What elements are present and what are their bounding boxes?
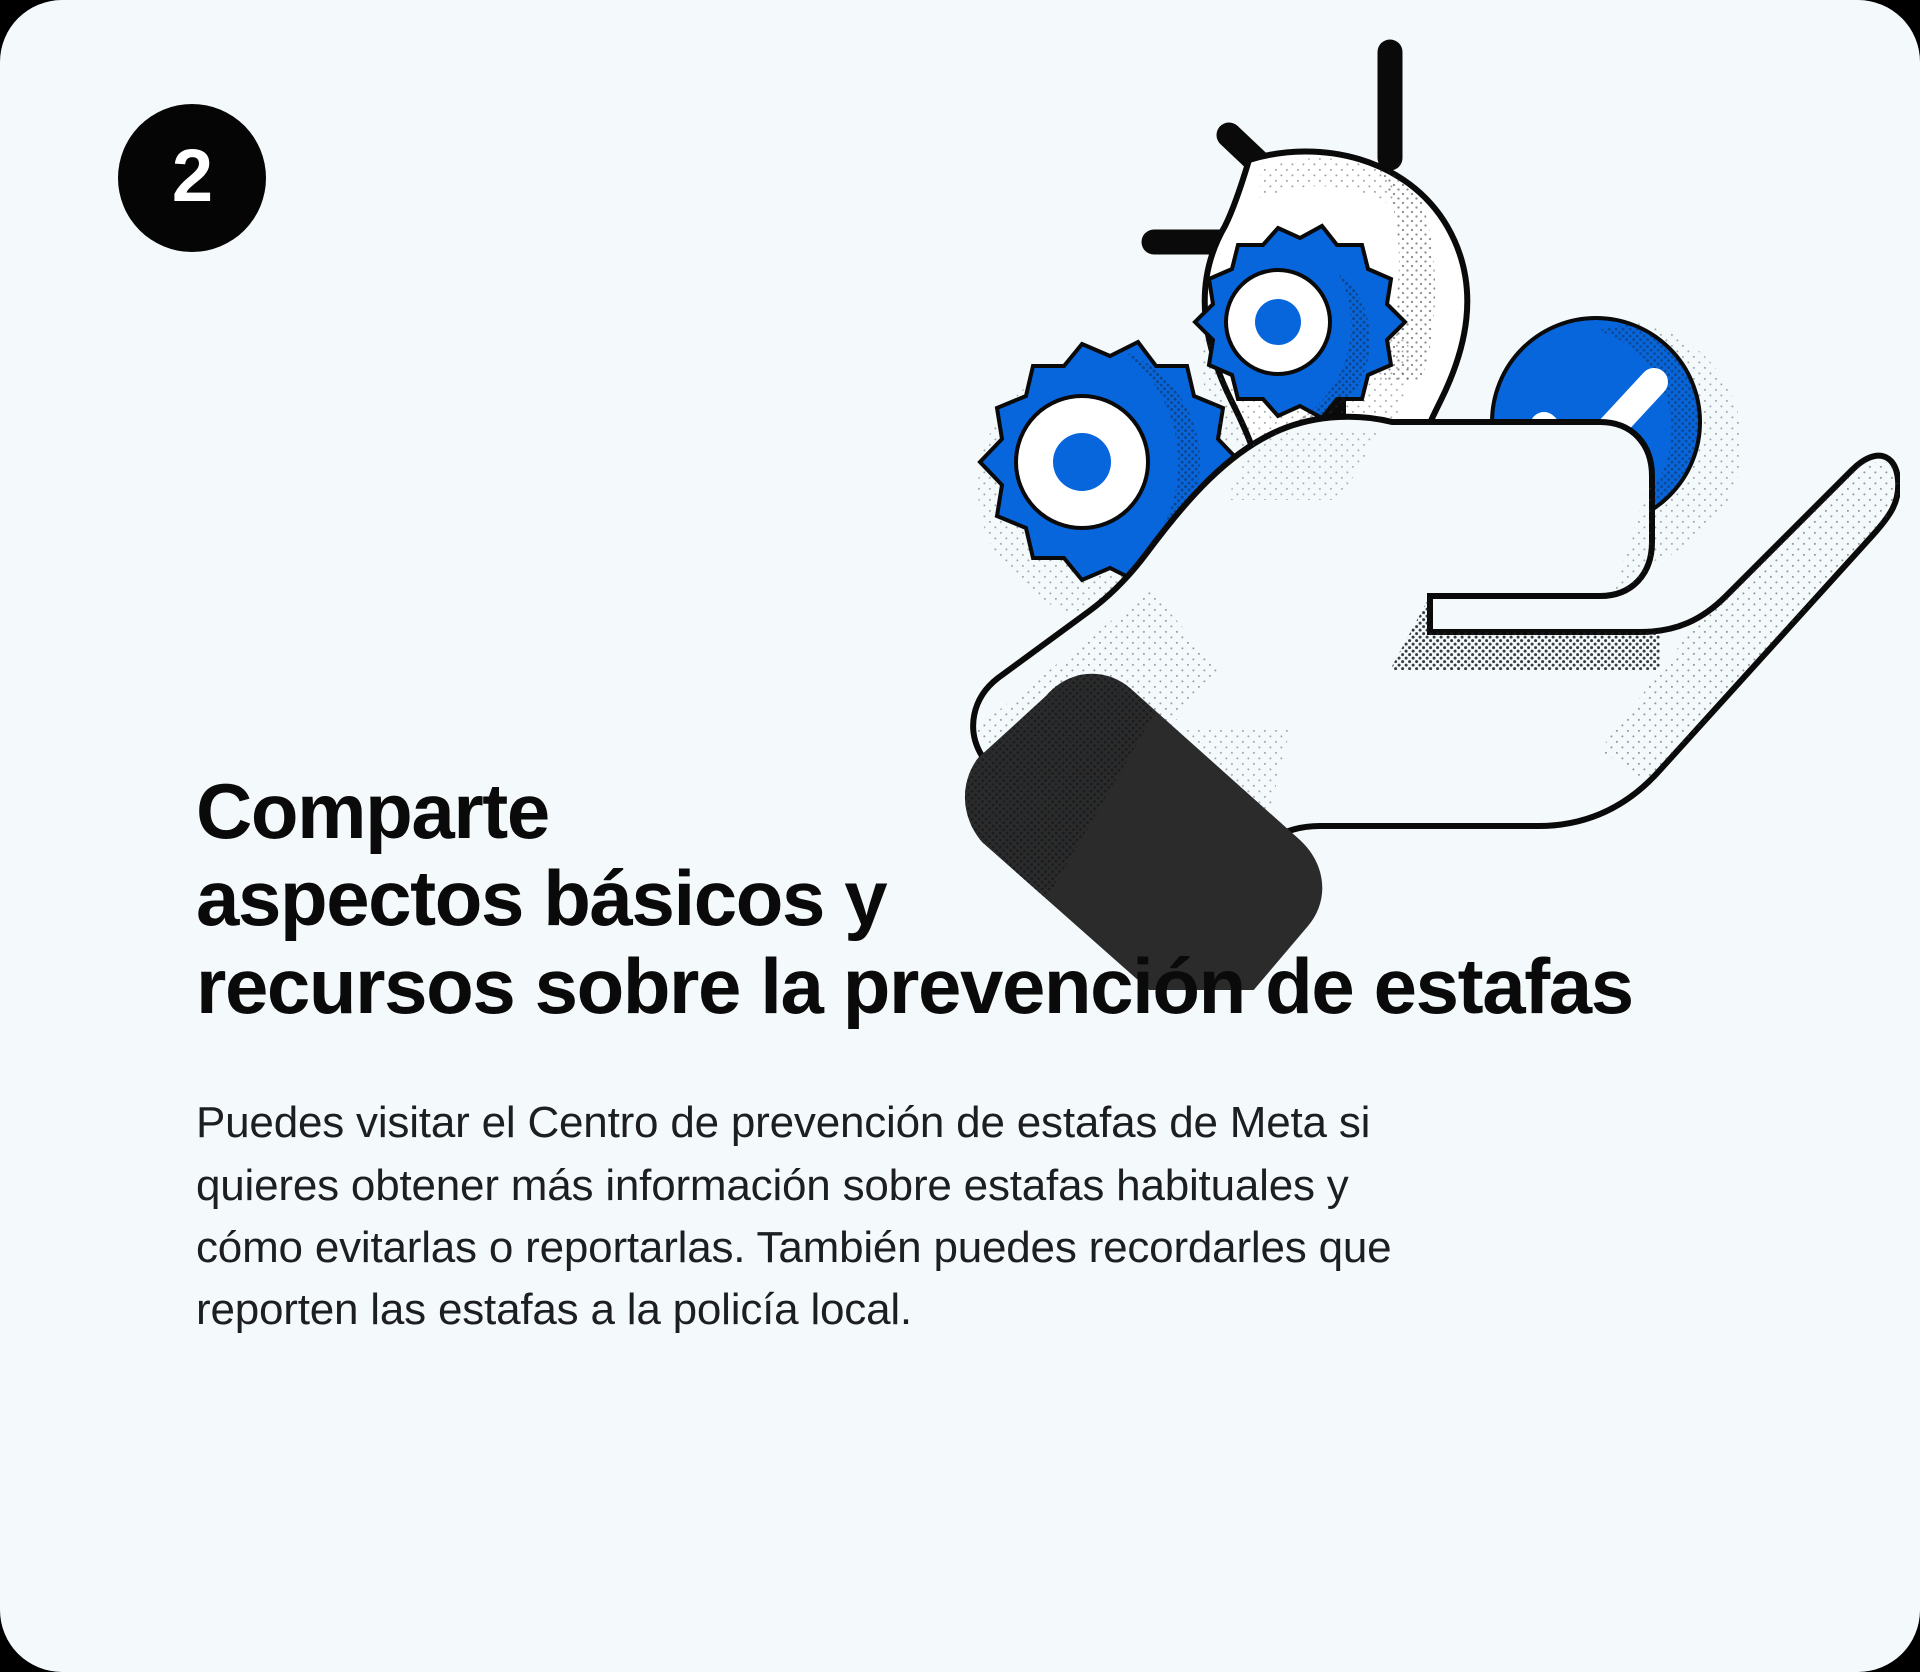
body-line-1: Puedes visitar el Centro de prevención d…	[196, 1092, 1726, 1154]
lightbulb-icon	[1205, 120, 1520, 732]
gear-large-body	[980, 342, 1240, 582]
lightbulb-tip	[1262, 604, 1410, 720]
lightbulb-filament	[1320, 326, 1346, 534]
body-line-4: reporten las estafas a la policía local.	[196, 1279, 1726, 1341]
gear-large-icon	[978, 320, 1260, 618]
gear-small-body	[1195, 226, 1405, 418]
page-title: Comparte aspectos básicos y recursos sob…	[196, 768, 1846, 1030]
gear-small-ring	[1226, 270, 1330, 374]
body-paragraph: Puedes visitar el Centro de prevención d…	[196, 1092, 1726, 1342]
step-number-label: 2	[172, 139, 212, 213]
headline-line-3: recursos sobre la prevención de estafas	[196, 943, 1846, 1030]
headline-line-1: Comparte	[196, 768, 1846, 855]
lightbulb-glass	[1205, 151, 1468, 530]
lightbulb-base	[1260, 530, 1412, 604]
gear-large-ring	[1016, 396, 1148, 528]
gear-small-hub	[1255, 299, 1301, 345]
gear-large-hub	[1053, 433, 1111, 491]
body-line-3: cómo evitarlas o reportarlas. También pu…	[196, 1217, 1726, 1279]
text-content-block: Comparte aspectos básicos y recursos sob…	[196, 768, 1846, 1342]
headline-line-2: aspectos básicos y	[196, 855, 1846, 942]
gear-small-icon	[1195, 210, 1420, 468]
light-ray-diagonal	[1229, 135, 1304, 206]
check-mark-icon	[1544, 382, 1654, 462]
check-badge-circle	[1492, 318, 1700, 526]
light-rays-group	[1154, 52, 1390, 242]
blue-check-badge-icon	[1492, 310, 1742, 566]
step-number-badge: 2	[118, 104, 266, 252]
body-line-2: quieres obtener más información sobre es…	[196, 1155, 1726, 1217]
scam-prevention-card: 2	[0, 0, 1920, 1672]
